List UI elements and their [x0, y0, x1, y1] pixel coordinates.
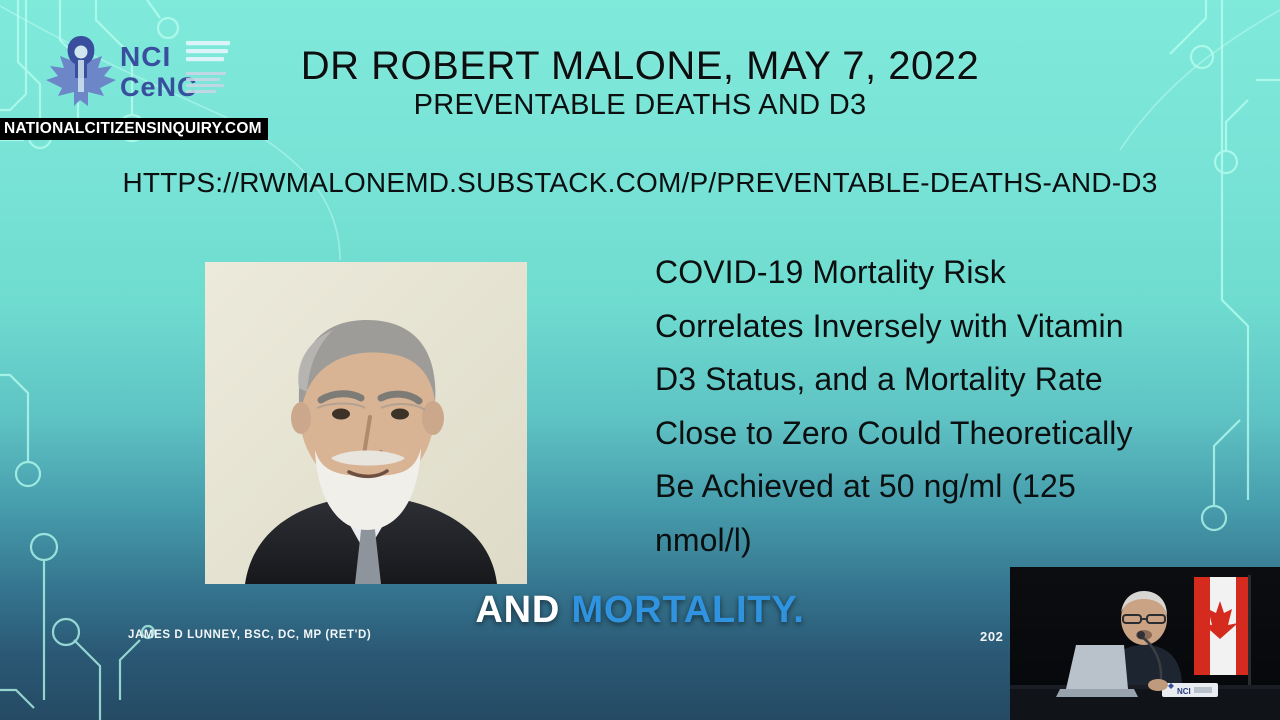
canadian-flag [1194, 575, 1251, 685]
page-subtitle: PREVENTABLE DEATHS AND D3 [0, 88, 1280, 122]
speaker-portrait [205, 262, 527, 584]
body-text: COVID-19 Mortality Risk Correlates Inver… [655, 246, 1155, 567]
slide-canvas: NCI CeNC NATIONALCITIZENSINQUIRY.COM DR … [0, 0, 1280, 720]
caption-leading-text: AND [475, 589, 571, 631]
source-url-text: HTTPS://RWMALONEMD.SUBSTACK.COM/P/PREVEN… [0, 166, 1280, 200]
nci-nameplate: NCI [1162, 683, 1218, 697]
speaker-video-inset[interactable]: NCI [1010, 567, 1280, 720]
svg-text:NCI: NCI [1177, 687, 1191, 696]
caption-highlight-text: MORTALITY. [571, 589, 804, 631]
page-title: DR ROBERT MALONE, MAY 7, 2022 [0, 43, 1280, 89]
